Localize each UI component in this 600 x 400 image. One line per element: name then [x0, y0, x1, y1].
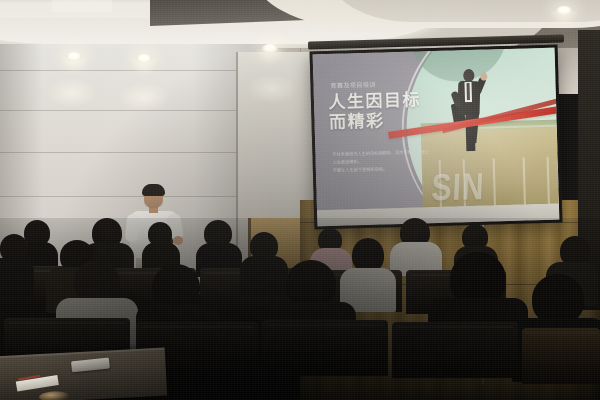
slide-title: 人生因目标 而精彩 [328, 90, 422, 133]
wall-light-glow [46, 78, 98, 108]
lecture-hall-photo: SIN 竞赛及项目培训 人生因 [0, 0, 600, 400]
presentation-slide: SIN 竞赛及项目培训 人生因 [313, 48, 559, 211]
slide-title-line1: 人生因目标 [328, 90, 421, 112]
wall-light-glow [118, 82, 170, 112]
ceiling-downlight [556, 6, 572, 15]
slide-title-line2: 而精彩 [329, 110, 422, 133]
slide-kicker-text: 竞赛及项目培训 [330, 79, 376, 89]
smartphone [71, 357, 110, 372]
projection-screen: SIN 竞赛及项目培训 人生因 [310, 45, 563, 230]
keys [39, 391, 69, 400]
slide-body-text: 不甘来者因为人生的目标而精彩，因为不懈努力而让人生更加精彩。 不要让人生留下遗憾… [332, 148, 429, 175]
screen-surface: SIN 竞赛及项目培训 人生因 [313, 48, 560, 227]
ceiling-downlight [136, 54, 152, 63]
ceiling-downlight [66, 52, 82, 61]
ceiling-downlight [262, 44, 278, 53]
wall-light-glow [246, 74, 298, 104]
ceiling-tile [52, 0, 112, 12]
foreground-table [0, 348, 167, 400]
